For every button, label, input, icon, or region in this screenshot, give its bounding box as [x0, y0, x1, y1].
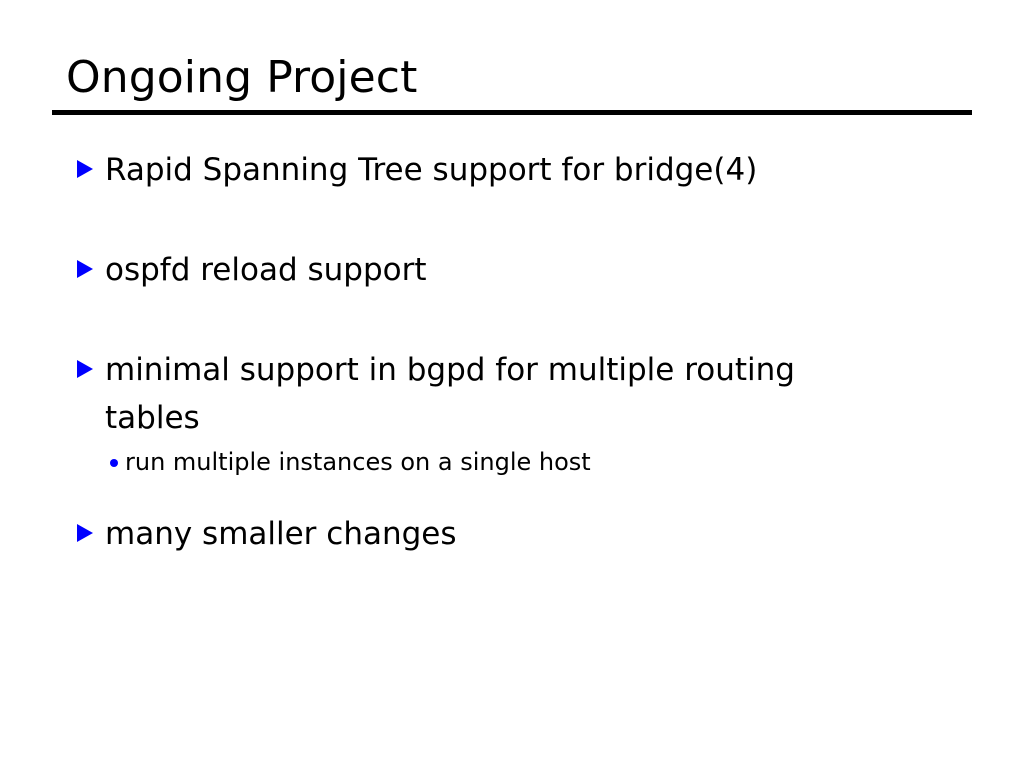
list-item: minimal support in bgpd for multiple rou… — [0, 346, 1024, 480]
dot-icon — [110, 459, 118, 467]
list-item-label: ospfd reload support — [105, 246, 874, 294]
bullet-list: Rapid Spanning Tree support for bridge(4… — [0, 146, 1024, 558]
sub-list-item-label: run multiple instances on a single host — [125, 444, 874, 480]
triangle-right-icon — [77, 524, 93, 542]
page-title: Ongoing Project — [66, 52, 417, 104]
list-item-label: minimal support in bgpd for multiple rou… — [105, 346, 874, 442]
slide: Ongoing Project Rapid Spanning Tree supp… — [0, 0, 1024, 768]
sub-list-item: run multiple instances on a single host — [105, 444, 874, 480]
list-item: ospfd reload support — [0, 246, 1024, 294]
list-item-label: Rapid Spanning Tree support for bridge(4… — [105, 146, 874, 194]
triangle-right-icon — [77, 360, 93, 378]
triangle-right-icon — [77, 160, 93, 178]
triangle-right-icon — [77, 260, 93, 278]
list-item: Rapid Spanning Tree support for bridge(4… — [0, 146, 1024, 194]
title-underline-rule — [52, 110, 972, 115]
list-item-label: many smaller changes — [105, 510, 874, 558]
list-item: many smaller changes — [0, 510, 1024, 558]
sub-bullet-list: run multiple instances on a single host — [105, 444, 874, 480]
